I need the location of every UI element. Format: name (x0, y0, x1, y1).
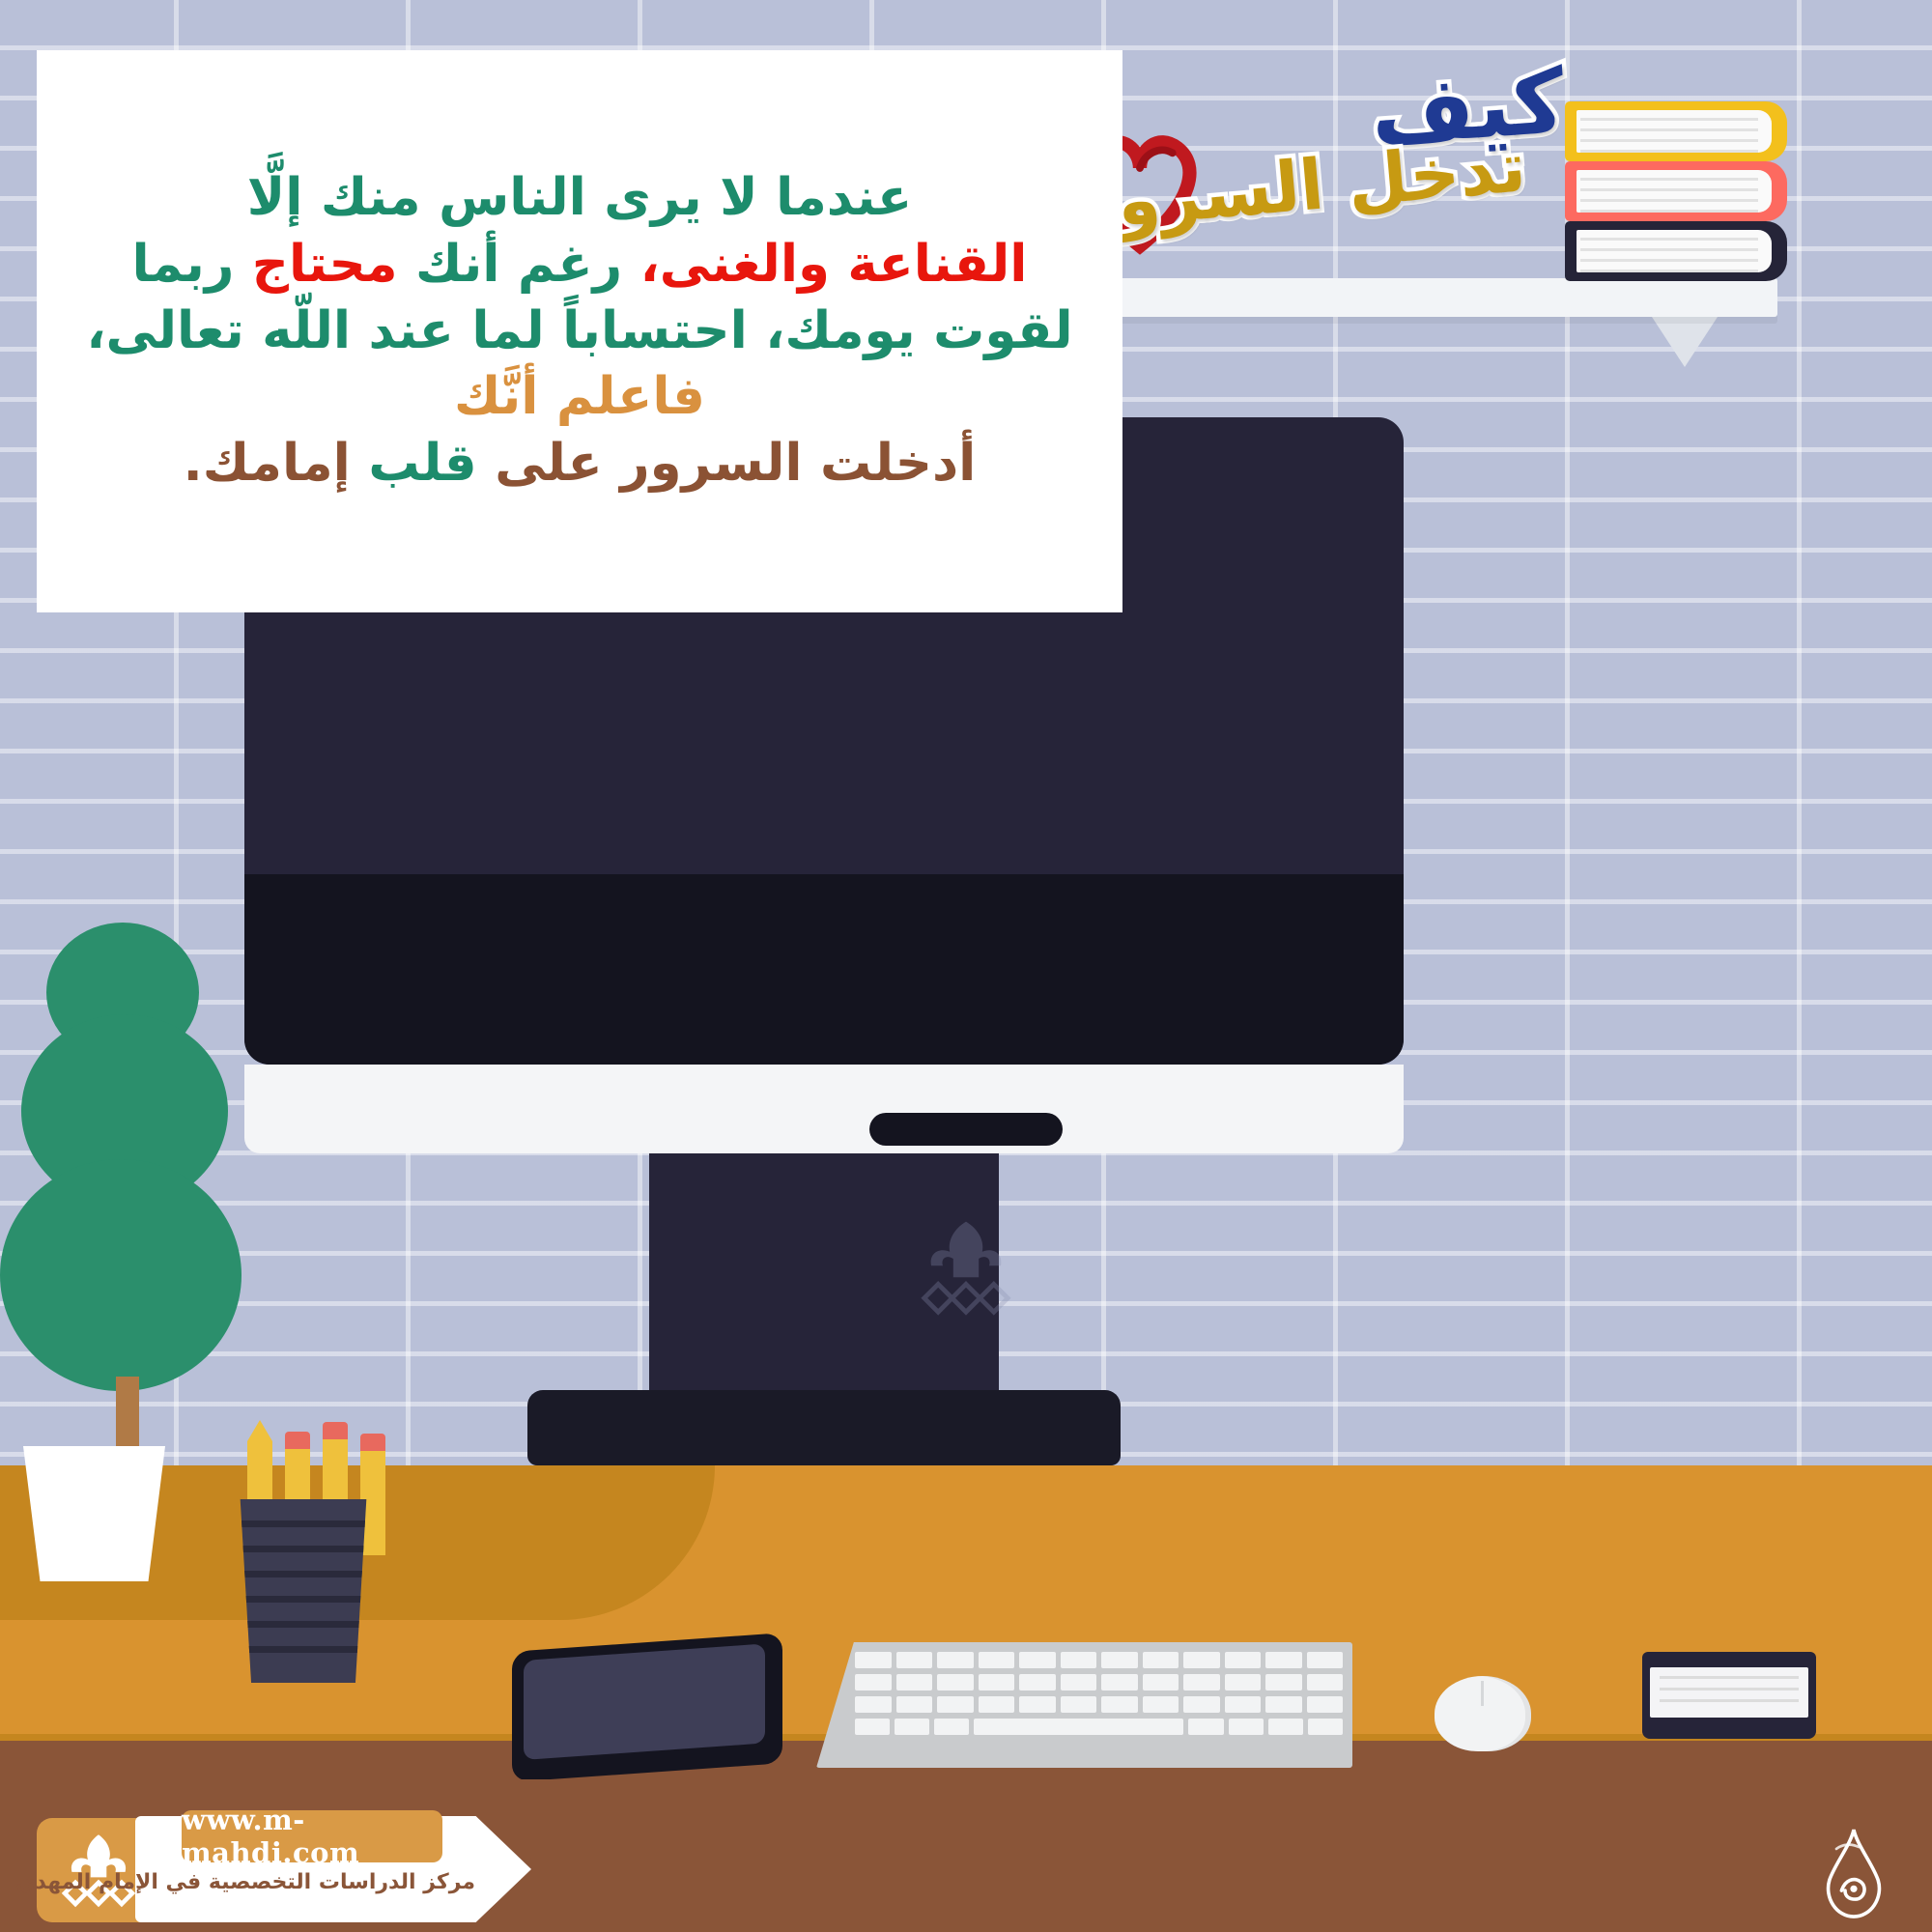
text-segment: محتاج (252, 235, 398, 294)
tree-foliage-bottom (0, 1159, 241, 1391)
graphics-tablet[interactable] (512, 1633, 782, 1782)
website-url-badge[interactable]: www.m-mahdi.com (182, 1810, 442, 1862)
book-yellow (1565, 101, 1787, 161)
screen-text-line-2: القناعة والغنى، رغم أنك محتاج ربما (64, 232, 1095, 298)
text-segment: أدخلت السرور على (477, 434, 977, 493)
key[interactable] (1225, 1674, 1262, 1690)
key[interactable] (855, 1696, 892, 1713)
keyboard-row[interactable] (855, 1696, 1343, 1713)
keyboard-row[interactable] (855, 1652, 1343, 1668)
key[interactable] (1229, 1719, 1264, 1735)
institute-arabic-name: مركز الدراسات التخصصية في الإمام المهدي (156, 1870, 475, 1894)
screen-text-line-4: فاعلم أنَّك (64, 364, 1095, 431)
key[interactable] (979, 1652, 1015, 1668)
text-segment: قلب (368, 434, 476, 493)
monitor-screen: عندما لا يرى الناس منك إلَّا القناعة وال… (37, 50, 1122, 612)
text-segment: لقوت يومك، احتساباً لما عند اللّه تعالى، (86, 301, 1072, 360)
screen-text-line-3: لقوت يومك، احتساباً لما عند اللّه تعالى، (64, 298, 1095, 365)
key[interactable] (896, 1652, 933, 1668)
key[interactable] (934, 1719, 969, 1735)
book-pages (1577, 230, 1772, 272)
key[interactable] (1265, 1696, 1302, 1713)
key[interactable] (1143, 1696, 1179, 1713)
key[interactable] (1183, 1696, 1220, 1713)
screen-text-line-1: عندما لا يرى الناس منك إلَّا (64, 165, 1095, 232)
mouse-button-divider (1481, 1681, 1484, 1706)
key[interactable] (1143, 1652, 1179, 1668)
tablet-surface[interactable] (524, 1643, 765, 1759)
key[interactable] (1225, 1652, 1262, 1668)
institute-logo-icon (908, 1212, 1024, 1328)
keyboard-row[interactable] (855, 1719, 1343, 1735)
keyboard-keys[interactable] (855, 1652, 1343, 1741)
notebook (1642, 1652, 1816, 1739)
key[interactable] (1183, 1652, 1220, 1668)
shelf-bracket-right (1652, 317, 1718, 367)
key[interactable] (1188, 1719, 1223, 1735)
key[interactable] (1101, 1674, 1138, 1690)
footer-ribbon: مركز الدراسات التخصصية في الإمام المهدي … (135, 1816, 531, 1922)
text-segment: ربما (132, 235, 252, 294)
book-pages (1577, 170, 1772, 213)
key[interactable] (1307, 1674, 1344, 1690)
monitor-bezel-lower (244, 874, 1404, 1065)
monitor-stand-foot (527, 1390, 1121, 1465)
pencil-cup (235, 1499, 372, 1683)
key[interactable] (895, 1719, 929, 1735)
key[interactable] (1308, 1719, 1343, 1735)
monitor-base (244, 1065, 1404, 1153)
key[interactable] (1268, 1719, 1303, 1735)
key[interactable] (896, 1674, 933, 1690)
monitor-base-notch (869, 1113, 1063, 1146)
keyboard-row[interactable] (855, 1674, 1343, 1690)
key[interactable] (1061, 1696, 1097, 1713)
text-segment: إمامك. (184, 434, 369, 493)
text-segment: عندما لا يرى الناس منك إلَّا (247, 168, 913, 227)
key[interactable] (1061, 1652, 1097, 1668)
notebook-pages (1650, 1667, 1808, 1718)
key[interactable] (1307, 1652, 1344, 1668)
key[interactable] (937, 1696, 974, 1713)
text-segment: رغم أنك (398, 235, 640, 294)
calligraphy-ornament-icon (1810, 1826, 1897, 1922)
key[interactable] (1143, 1674, 1179, 1690)
key[interactable] (1265, 1674, 1302, 1690)
key[interactable] (979, 1674, 1015, 1690)
key[interactable] (1183, 1674, 1220, 1690)
key[interactable] (1061, 1674, 1097, 1690)
key[interactable] (1019, 1652, 1056, 1668)
key[interactable] (1101, 1696, 1138, 1713)
key[interactable] (1265, 1652, 1302, 1668)
text-segment: القناعة والغنى، (640, 235, 1028, 294)
key[interactable] (1019, 1674, 1056, 1690)
book-stack (1565, 101, 1787, 280)
key[interactable] (855, 1652, 892, 1668)
book-red (1565, 161, 1787, 221)
key[interactable] (1225, 1696, 1262, 1713)
text-segment: فاعلم أنَّك (454, 367, 705, 426)
key[interactable] (896, 1696, 933, 1713)
key-space[interactable] (974, 1719, 1183, 1735)
website-url[interactable]: www.m-mahdi.com (182, 1804, 442, 1869)
key[interactable] (1101, 1652, 1138, 1668)
key[interactable] (1307, 1696, 1344, 1713)
key[interactable] (1019, 1696, 1056, 1713)
book-navy (1565, 221, 1787, 281)
key[interactable] (979, 1696, 1015, 1713)
key[interactable] (855, 1719, 890, 1735)
key[interactable] (855, 1674, 892, 1690)
screen-text-line-5: أدخلت السرور على قلب إمامك. (64, 431, 1095, 497)
key[interactable] (937, 1674, 974, 1690)
key[interactable] (937, 1652, 974, 1668)
book-pages (1577, 110, 1772, 153)
keyboard[interactable] (816, 1642, 1352, 1768)
